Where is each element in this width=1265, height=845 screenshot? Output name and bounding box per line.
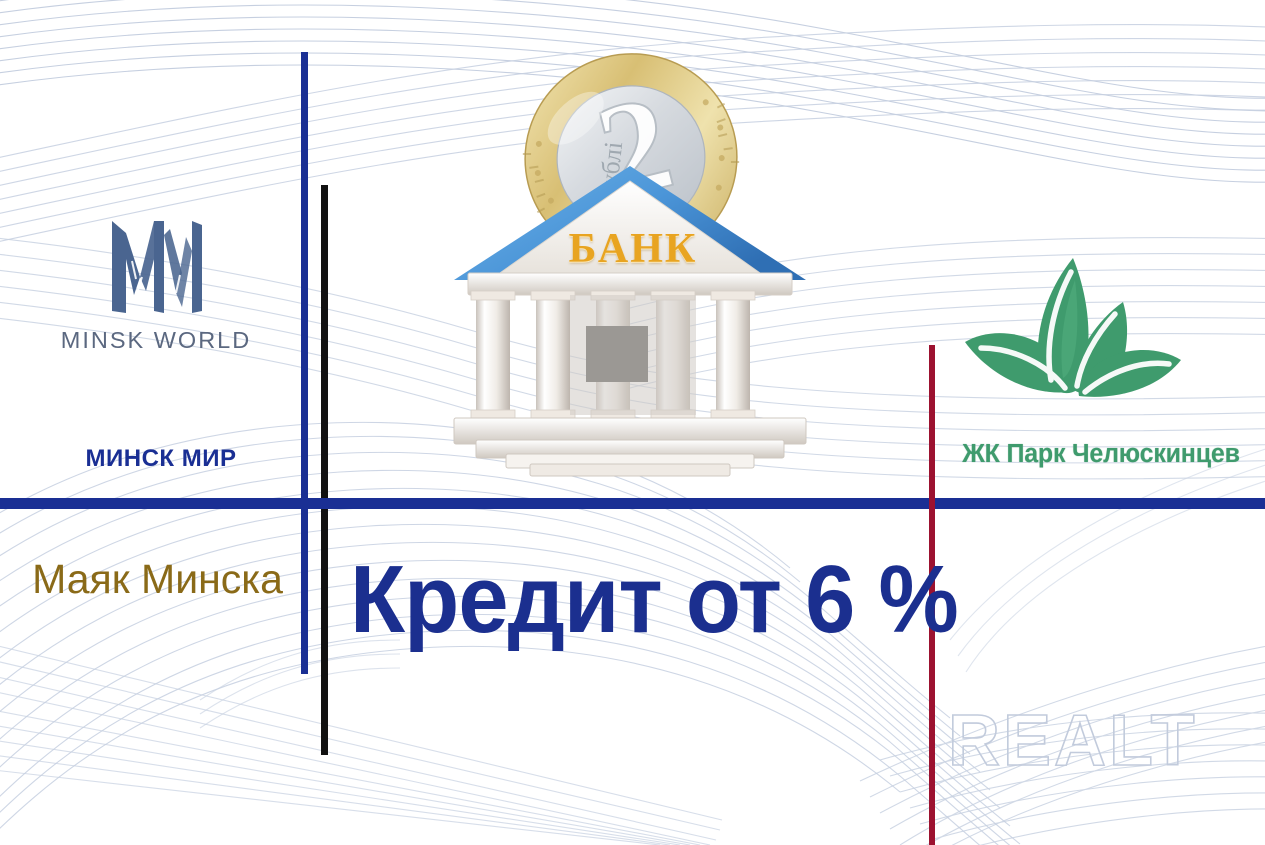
green-leaves-icon xyxy=(955,250,1190,430)
headline-credit-rate: Кредит от 6 % xyxy=(350,552,895,648)
mayak-minska-brand: Маяк Минска xyxy=(30,556,285,603)
promo-banner: MINSK WORLD МИНСК МИР Маяк Минска xyxy=(0,0,1265,845)
divider-horizontal-blue xyxy=(0,498,1265,509)
park-chelyuskintsev-title: ЖК Парк Челюскинцев xyxy=(939,440,1262,469)
minsk-world-wordmark: MINSK WORLD xyxy=(46,327,266,354)
mw-monogram-icon xyxy=(102,215,210,319)
bank-building-with-coin-icon: 2 рублі xyxy=(418,48,848,478)
minsk-world-logo-block: MINSK WORLD xyxy=(46,215,266,354)
divider-vertical-black xyxy=(321,185,328,755)
divider-vertical-blue xyxy=(301,52,308,674)
realt-watermark: REALT xyxy=(948,700,1198,782)
minsk-mir-subtitle: МИНСК МИР xyxy=(46,445,276,473)
